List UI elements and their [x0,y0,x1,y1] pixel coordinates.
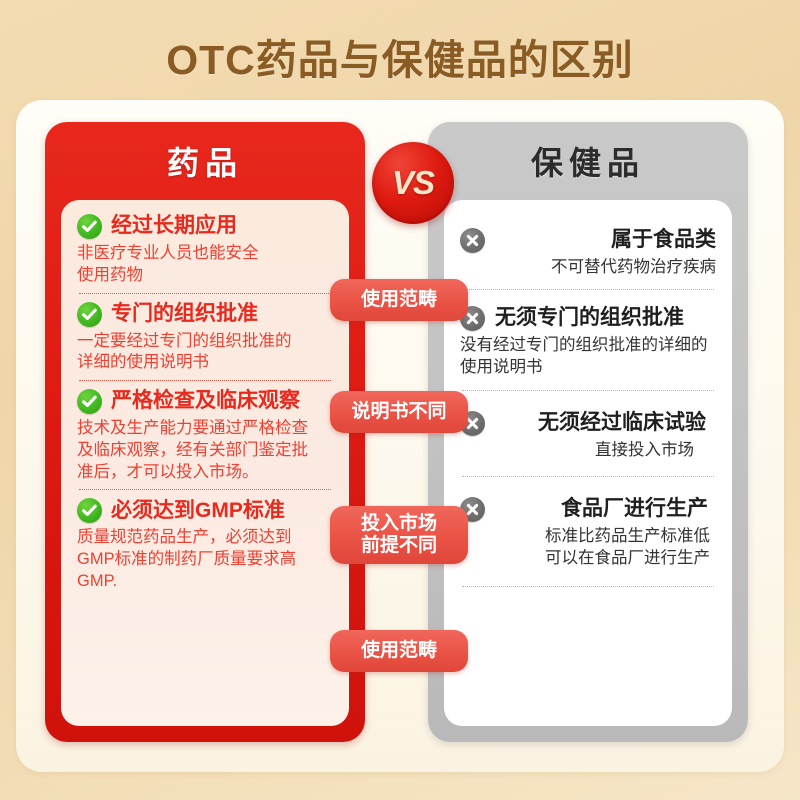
divider [462,586,714,587]
feature-title: 专门的组织批准 [111,302,258,326]
feature-heading-row: 专门的组织批准 [77,302,333,327]
x-circle-icon [460,228,485,253]
divider [79,380,331,381]
feature-title: 无须经过临床试验 [538,411,706,434]
vs-badge-label: VS [392,164,434,202]
card-header-medicine-label: 药品 [167,138,243,184]
list-item: 专门的组织批准 一定要经过专门的组织批准的 详细的使用说明书 [77,302,333,375]
comparison-card-supplement: 保健品 属于食品类 不可替代药物治疗疾病 [428,122,748,742]
feature-heading-row: 无须专门的组织批准 [460,306,716,331]
list-item: 必须达到GMP标准 质量规范药品生产，必须达到 GMP标准的制药厂质量要求高GM… [77,498,333,592]
comparison-pill-usage-scope-2: 使用范畴 [330,630,468,672]
feature-heading-row: 严格检查及临床观察 [77,389,333,414]
feature-description: 没有经过专门的组织批准的详细的 使用说明书 [460,335,716,379]
feature-title: 严格检查及临床观察 [111,389,300,413]
card-header-medicine: 药品 [45,122,365,200]
check-circle-icon [77,302,102,327]
feature-description: 标准比药品生产标准低 可以在食品厂进行生产 [460,526,716,570]
divider [462,390,714,391]
divider [79,489,331,490]
list-item: 严格检查及临床观察 技术及生产能力要通过严格检查 及临床观察，经有关部门鉴定批 … [77,389,333,483]
feature-title: 属于食品类 [611,228,716,251]
check-circle-icon [77,389,102,414]
comparison-pill-usage-scope-1: 使用范畴 [330,279,468,321]
page-title-text: OTC药品与保健品的区别 [166,37,634,83]
feature-description: 不可替代药物治疗疾病 [460,257,716,279]
card-body-supplement: 属于食品类 不可替代药物治疗疾病 无须专门的组织批准 没有经过专门的组织批准的详… [444,200,732,726]
check-circle-icon [77,498,102,523]
feature-heading-row: 必须达到GMP标准 [77,498,333,523]
feature-heading-row: 经过长期应用 [77,214,333,239]
list-item: 食品厂进行生产 标准比药品生产标准低 可以在食品厂进行生产 [460,485,716,570]
vs-badge: VS [372,142,454,224]
page-title: OTC药品与保健品的区别 [0,26,800,86]
feature-title: 经过长期应用 [111,214,237,238]
divider [462,289,714,290]
check-circle-icon [77,214,102,239]
divider [462,476,714,477]
feature-description: 质量规范药品生产，必须达到 GMP标准的制药厂质量要求高GMP. [77,527,333,592]
list-item: 经过长期应用 非医疗专业人员也能安全 使用药物 [77,214,333,287]
feature-title: 必须达到GMP标准 [111,499,285,523]
feature-heading-row: 无须经过临床试验 [460,411,716,436]
infographic-page: OTC药品与保健品的区别 药品 经过长期应用 非医疗专业人员也能安全 使用药物 [0,0,800,800]
list-item: 无须经过临床试验 直接投入市场 [460,399,716,462]
list-item: 无须专门的组织批准 没有经过专门的组织批准的详细的 使用说明书 [460,298,716,379]
feature-heading-row: 食品厂进行生产 [460,497,716,522]
comparison-card-medicine: 药品 经过长期应用 非医疗专业人员也能安全 使用药物 专门的组织批准 [45,122,365,742]
comparison-pill-market-entry: 投入市场 前提不同 [330,506,468,564]
card-header-supplement: 保健品 [428,122,748,200]
card-body-medicine: 经过长期应用 非医疗专业人员也能安全 使用药物 专门的组织批准 一定要经过专门的… [61,200,349,726]
feature-title: 无须专门的组织批准 [495,306,684,329]
feature-description: 非医疗专业人员也能安全 使用药物 [77,243,333,287]
comparison-pill-instructions: 说明书不同 [330,391,468,433]
feature-heading-row: 属于食品类 [460,228,716,253]
feature-title: 食品厂进行生产 [561,497,708,520]
feature-description: 一定要经过专门的组织批准的 详细的使用说明书 [77,331,333,375]
divider [79,293,331,294]
feature-description: 技术及生产能力要通过严格检查 及临床观察，经有关部门鉴定批 准后，才可以投入市场… [77,418,333,483]
card-header-supplement-label: 保健品 [531,138,645,184]
list-item: 属于食品类 不可替代药物治疗疾病 [460,214,716,279]
feature-description: 直接投入市场 [460,440,716,462]
